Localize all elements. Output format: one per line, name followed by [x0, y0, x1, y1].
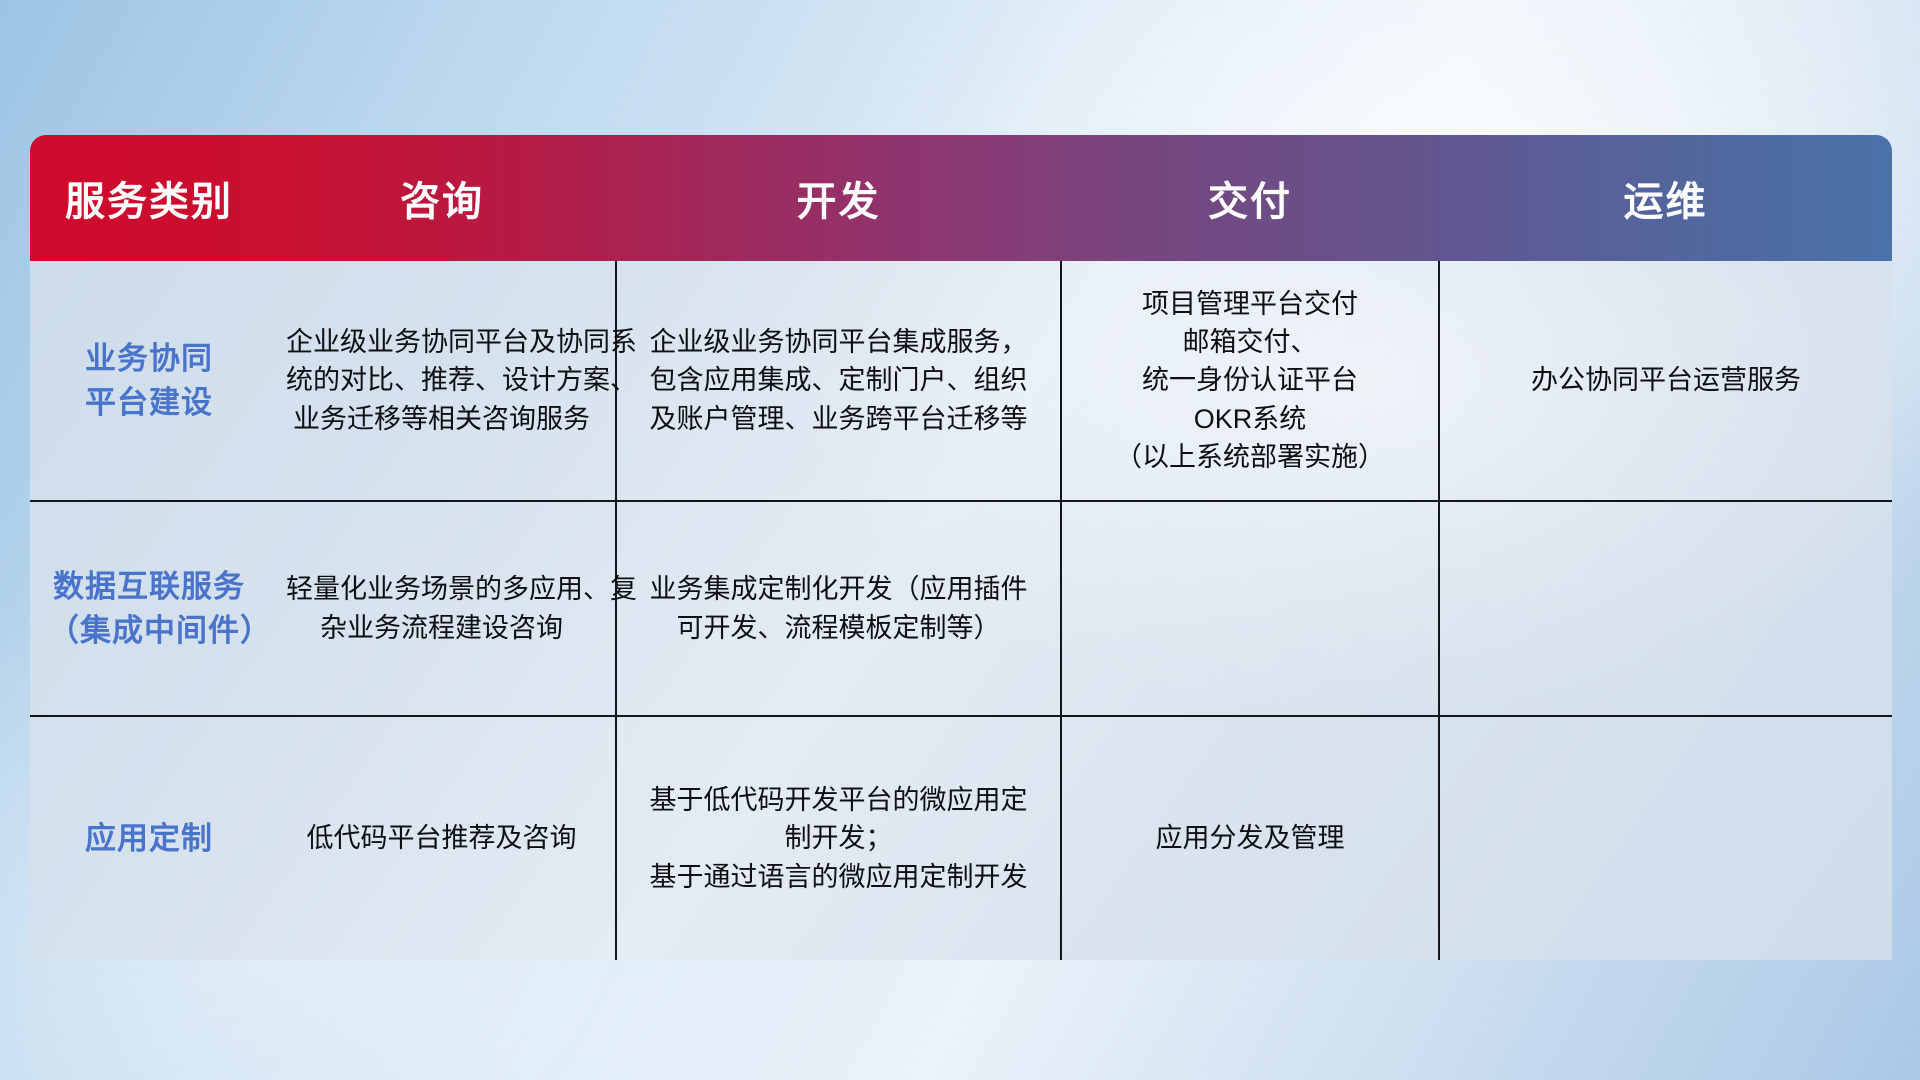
cell-category: 应用定制 [30, 716, 268, 960]
column-header-delivery: 交付 [1061, 135, 1439, 261]
cell-text-line: 平台建设 [48, 381, 250, 424]
cell-category: 数据互联服务（集成中间件） [30, 501, 268, 716]
cell-development: 基于低代码开发平台的微应用定制开发；基于通过语言的微应用定制开发 [616, 716, 1061, 960]
cell-text-line: 统的对比、推荐、设计方案、 [286, 361, 597, 399]
cell-text-line: 办公协同平台运营服务 [1458, 361, 1874, 399]
cell-text-line: 数据互联服务 [48, 565, 250, 608]
cell-text-line: 低代码平台推荐及咨询 [286, 819, 597, 857]
cell-text-line: （以上系统部署实施） [1080, 438, 1420, 476]
cell-consulting: 轻量化业务场景的多应用、复杂业务流程建设咨询 [268, 501, 616, 716]
table-header: 服务类别 咨询 开发 交付 运维 [30, 135, 1892, 261]
column-header-consulting: 咨询 [268, 135, 616, 261]
cell-text-line: 业务迁移等相关咨询服务 [286, 400, 597, 438]
column-header-category: 服务类别 [30, 135, 268, 261]
cell-text-line: 业务集成定制化开发（应用插件 [635, 570, 1042, 608]
cell-delivery: 应用分发及管理 [1061, 716, 1439, 960]
cell-development: 企业级业务协同平台集成服务，包含应用集成、定制门户、组织及账户管理、业务跨平台迁… [616, 261, 1061, 501]
cell-development: 业务集成定制化开发（应用插件可开发、流程模板定制等） [616, 501, 1061, 716]
cell-operations [1439, 501, 1892, 716]
column-header-operations: 运维 [1439, 135, 1892, 261]
table-header-row: 服务类别 咨询 开发 交付 运维 [30, 135, 1892, 261]
cell-text-line: 应用分发及管理 [1080, 819, 1420, 857]
table-body: 业务协同平台建设 企业级业务协同平台及协同系统的对比、推荐、设计方案、业务迁移等… [30, 261, 1892, 960]
cell-category: 业务协同平台建设 [30, 261, 268, 501]
cell-text-line: 基于低代码开发平台的微应用定 [635, 781, 1042, 819]
cell-text-line: OKR系统 [1080, 400, 1420, 438]
table-row: 数据互联服务（集成中间件） 轻量化业务场景的多应用、复杂业务流程建设咨询 业务集… [30, 501, 1892, 716]
cell-delivery: 项目管理平台交付邮箱交付、统一身份认证平台OKR系统（以上系统部署实施） [1061, 261, 1439, 501]
cell-operations [1439, 716, 1892, 960]
cell-text-line: 可开发、流程模板定制等） [635, 609, 1042, 647]
column-header-development: 开发 [616, 135, 1061, 261]
cell-text-line: 制开发； [635, 819, 1042, 857]
cell-text-line: 基于通过语言的微应用定制开发 [635, 858, 1042, 896]
cell-text-line: 项目管理平台交付 [1080, 285, 1420, 323]
table-row: 业务协同平台建设 企业级业务协同平台及协同系统的对比、推荐、设计方案、业务迁移等… [30, 261, 1892, 501]
service-matrix-table-container: 服务类别 咨询 开发 交付 运维 业务协同平台建设 企业级业务协同平台及协同系统… [30, 135, 1892, 960]
cell-text-line: 应用定制 [48, 817, 250, 860]
cell-text-line: 企业级业务协同平台集成服务， [635, 323, 1042, 361]
cell-consulting: 低代码平台推荐及咨询 [268, 716, 616, 960]
cell-delivery [1061, 501, 1439, 716]
page-root: 服务类别 咨询 开发 交付 运维 业务协同平台建设 企业级业务协同平台及协同系统… [0, 0, 1920, 1080]
service-matrix-table: 服务类别 咨询 开发 交付 运维 业务协同平台建设 企业级业务协同平台及协同系统… [30, 135, 1892, 960]
cell-text-line: 及账户管理、业务跨平台迁移等 [635, 400, 1042, 438]
cell-operations: 办公协同平台运营服务 [1439, 261, 1892, 501]
table-row: 应用定制 低代码平台推荐及咨询 基于低代码开发平台的微应用定制开发；基于通过语言… [30, 716, 1892, 960]
cell-consulting: 企业级业务协同平台及协同系统的对比、推荐、设计方案、业务迁移等相关咨询服务 [268, 261, 616, 501]
cell-text-line: 包含应用集成、定制门户、组织 [635, 361, 1042, 399]
cell-text-line: 杂业务流程建设咨询 [286, 609, 597, 647]
cell-text-line: 企业级业务协同平台及协同系 [286, 323, 597, 361]
cell-text-line: 邮箱交付、 [1080, 323, 1420, 361]
cell-text-line: 业务协同 [48, 337, 250, 380]
cell-text-line: 统一身份认证平台 [1080, 361, 1420, 399]
cell-text-line: （集成中间件） [48, 609, 250, 652]
cell-text-line: 轻量化业务场景的多应用、复 [286, 570, 597, 608]
